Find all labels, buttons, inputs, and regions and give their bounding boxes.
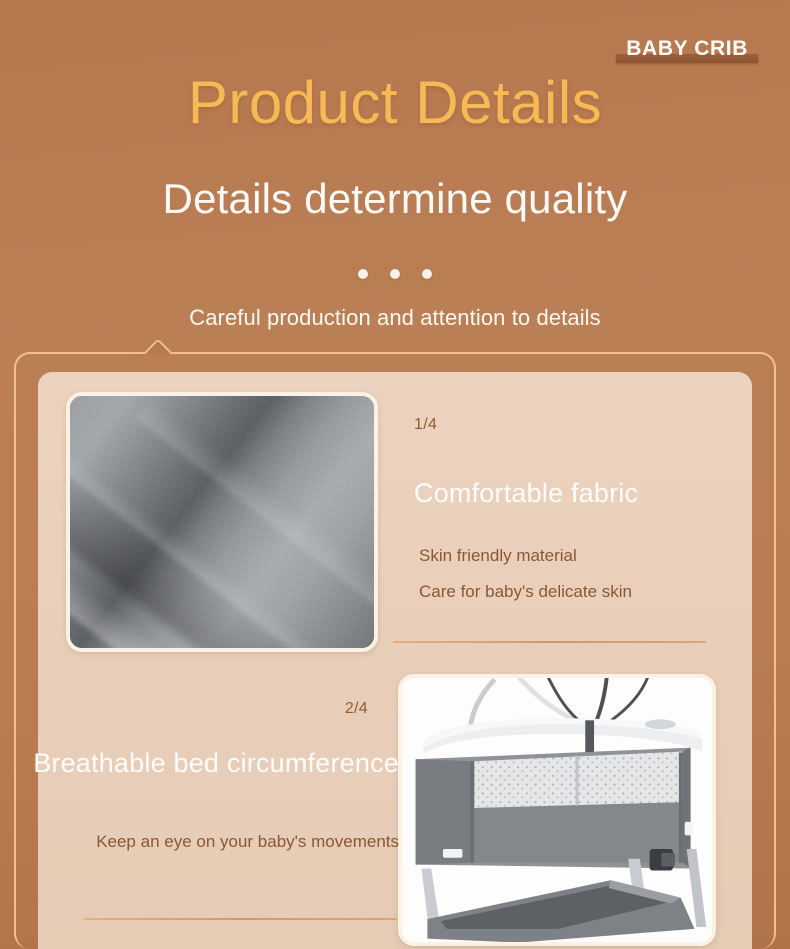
section-1-heading: Comfortable fabric [414,478,638,509]
section-1-line-2: Care for baby's delicate skin [419,582,632,602]
section-2-index: 2/4 [0,700,394,718]
dot-icon [422,269,432,279]
dot-icon [358,269,368,279]
section-1-divider [393,641,706,643]
page-subtitle: Details determine quality [0,176,790,222]
page-header: BABY CRIB Product Details Details determ… [0,0,790,352]
section-1-index: 1/4 [414,416,437,434]
section-2-line-1: Keep an eye on your baby's movements [0,832,400,852]
section-2-divider [84,918,397,920]
fabric-closeup-image [66,392,378,652]
crib-illustration [402,678,712,942]
section-1-line-1: Skin friendly material [419,546,577,566]
page-title: Product Details [0,71,790,134]
crib-product-image [398,674,716,946]
card-notch-mask [134,354,180,357]
page-tagline: Careful production and attention to deta… [0,305,790,331]
badge-label: BABY CRIB [620,38,754,59]
dot-divider [0,269,790,279]
dot-icon [390,269,400,279]
section-2-heading: Breathable bed circumference [0,748,400,779]
baby-crib-badge: BABY CRIB [620,38,754,59]
